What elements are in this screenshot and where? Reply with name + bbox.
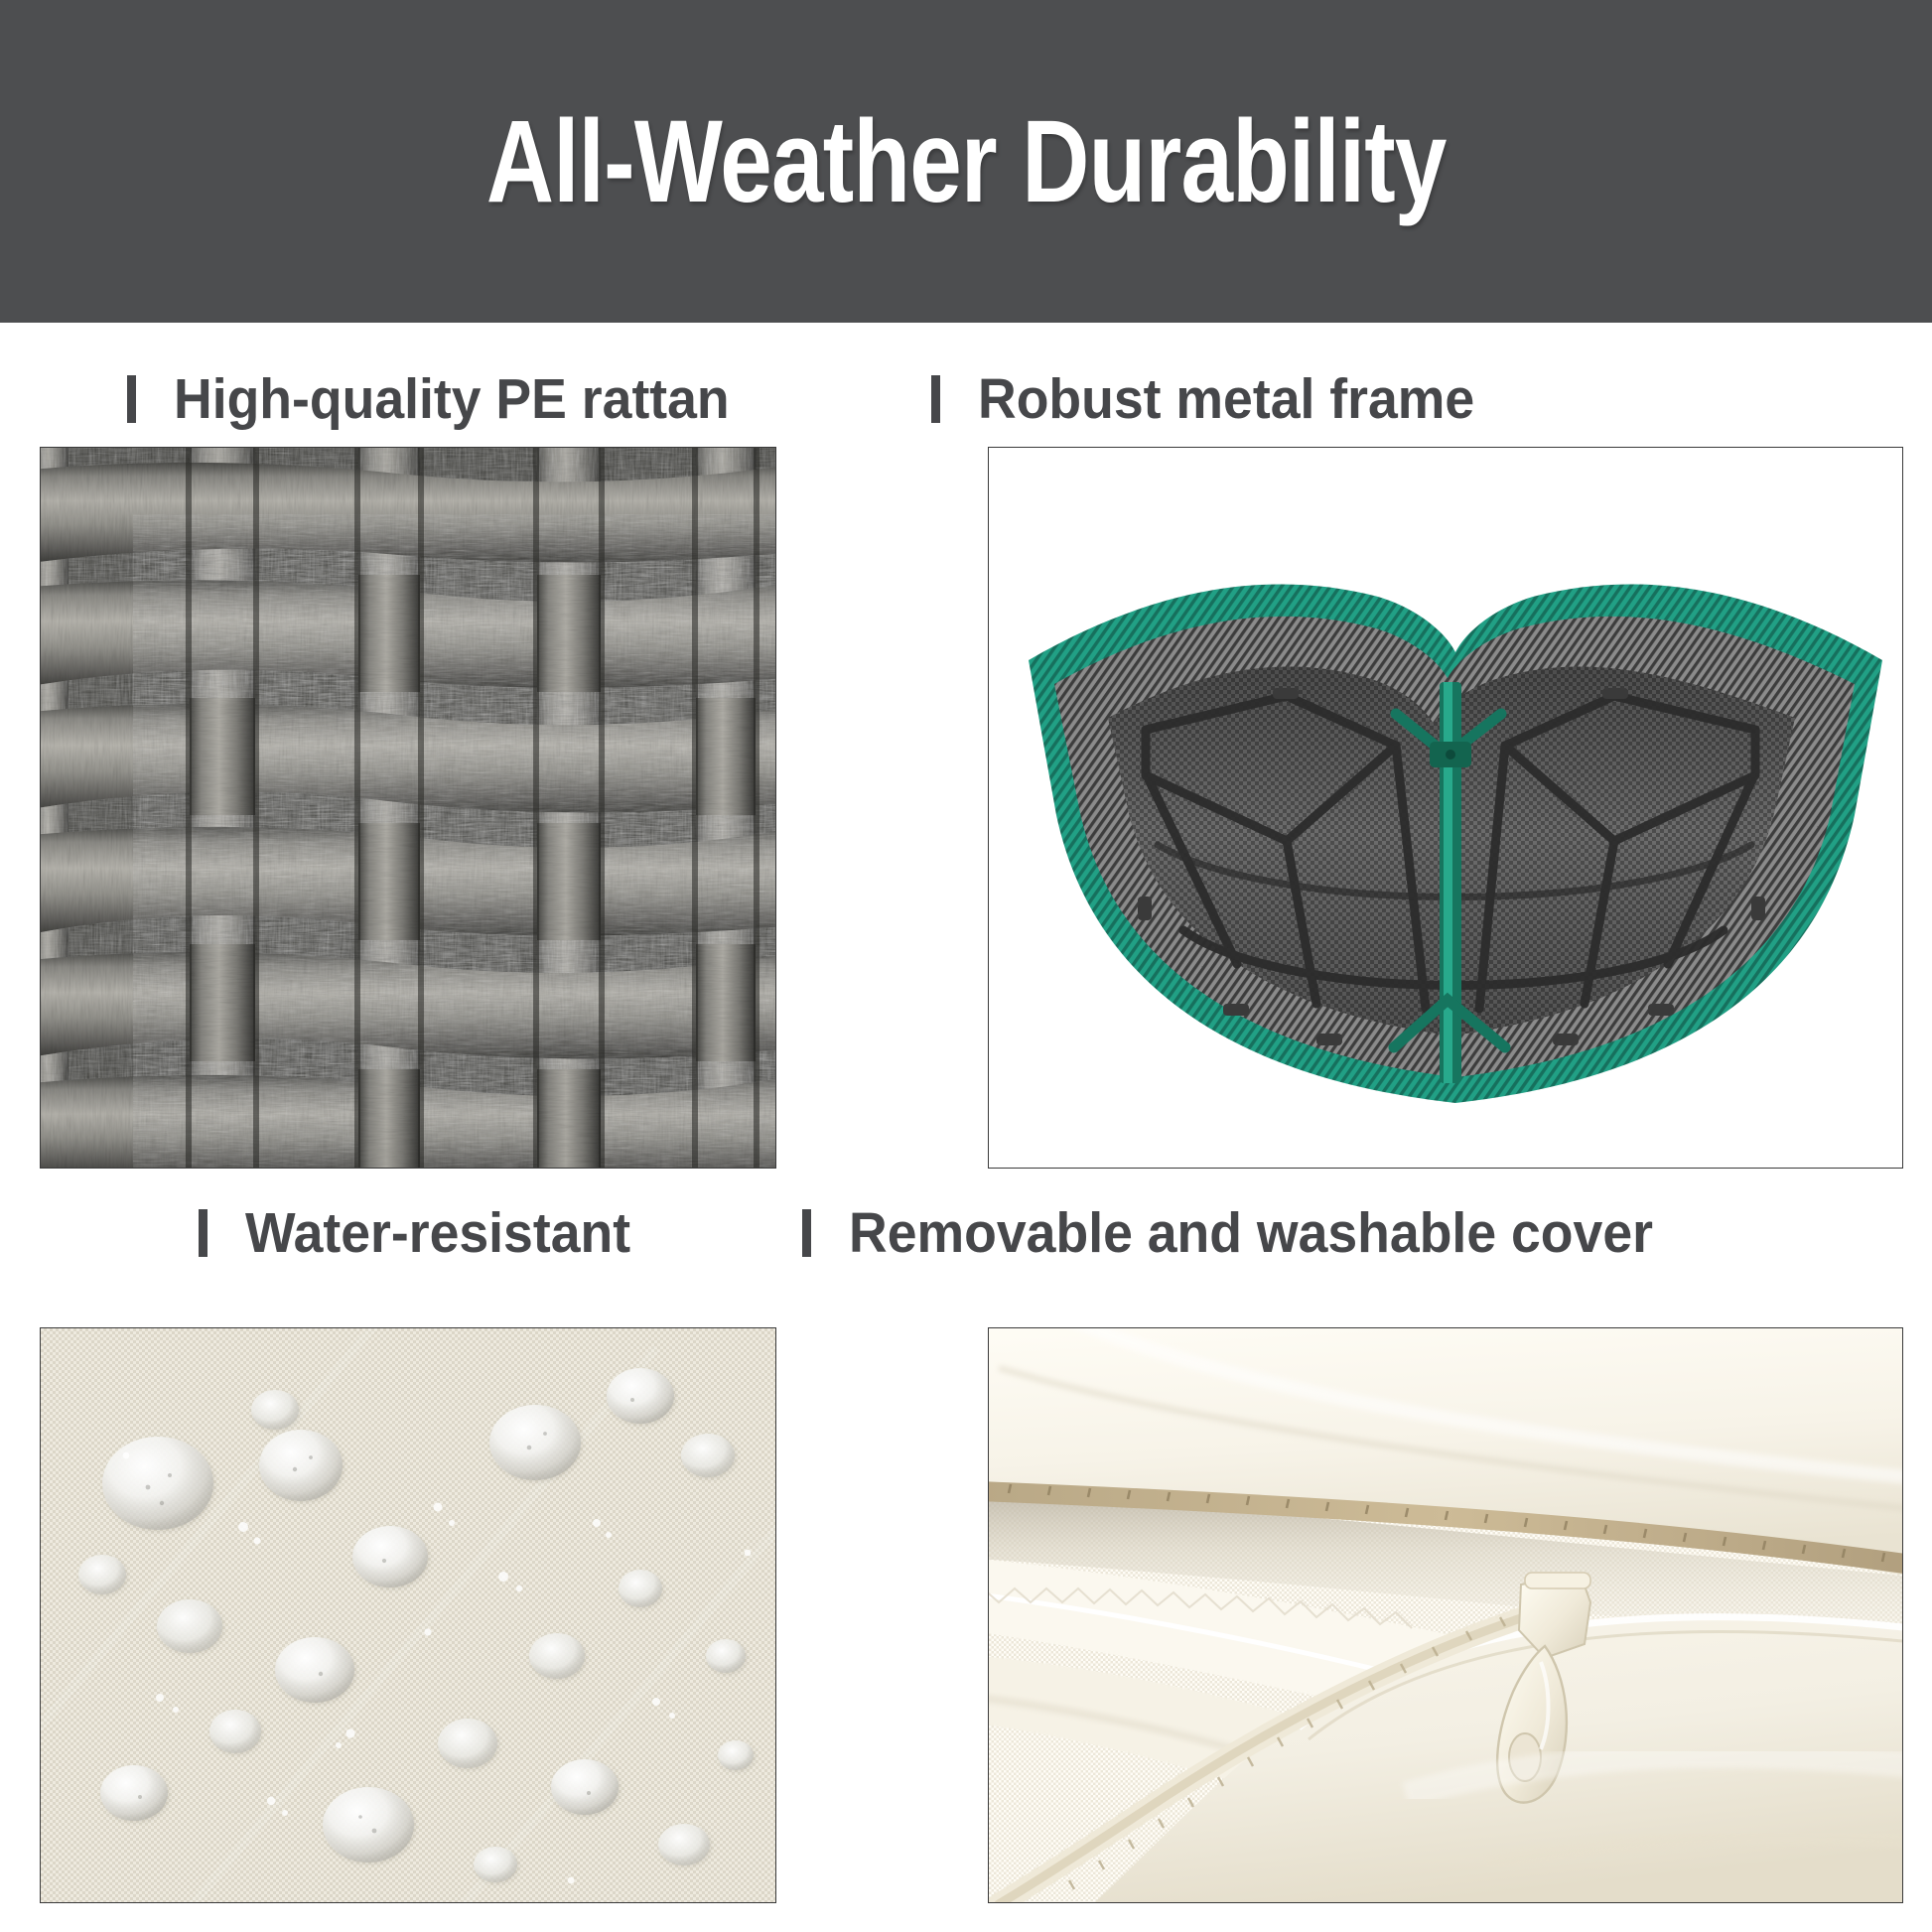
header-banner: All-Weather Durability (0, 0, 1932, 323)
panel-label-frame: Robust metal frame (931, 369, 1506, 429)
panel-label-text: Water-resistant (245, 1205, 630, 1262)
label-accent-bar-icon (199, 1209, 207, 1257)
metal-frame-image (989, 448, 1902, 1168)
water-droplets-image (41, 1328, 775, 1902)
label-accent-bar-icon (127, 375, 136, 423)
image-panel-washable-cover (988, 1327, 1903, 1903)
panel-label-cover: Removable and washable cover (802, 1203, 1705, 1263)
image-panel-metal-frame (988, 447, 1903, 1169)
label-accent-bar-icon (931, 375, 940, 423)
page-title: All-Weather Durability (486, 103, 1447, 220)
label-accent-bar-icon (802, 1209, 811, 1257)
image-panel-rattan (40, 447, 776, 1169)
image-panel-water-resistant (40, 1327, 776, 1903)
zipper-cover-image (989, 1328, 1902, 1902)
panel-label-water: Water-resistant (199, 1203, 655, 1263)
panel-label-text: Robust metal frame (978, 371, 1474, 428)
panel-label-text: High-quality PE rattan (174, 371, 730, 428)
panel-label-text: Removable and washable cover (849, 1205, 1653, 1262)
panel-label-rattan: High-quality PE rattan (127, 369, 764, 429)
rattan-weave-image (41, 448, 775, 1168)
